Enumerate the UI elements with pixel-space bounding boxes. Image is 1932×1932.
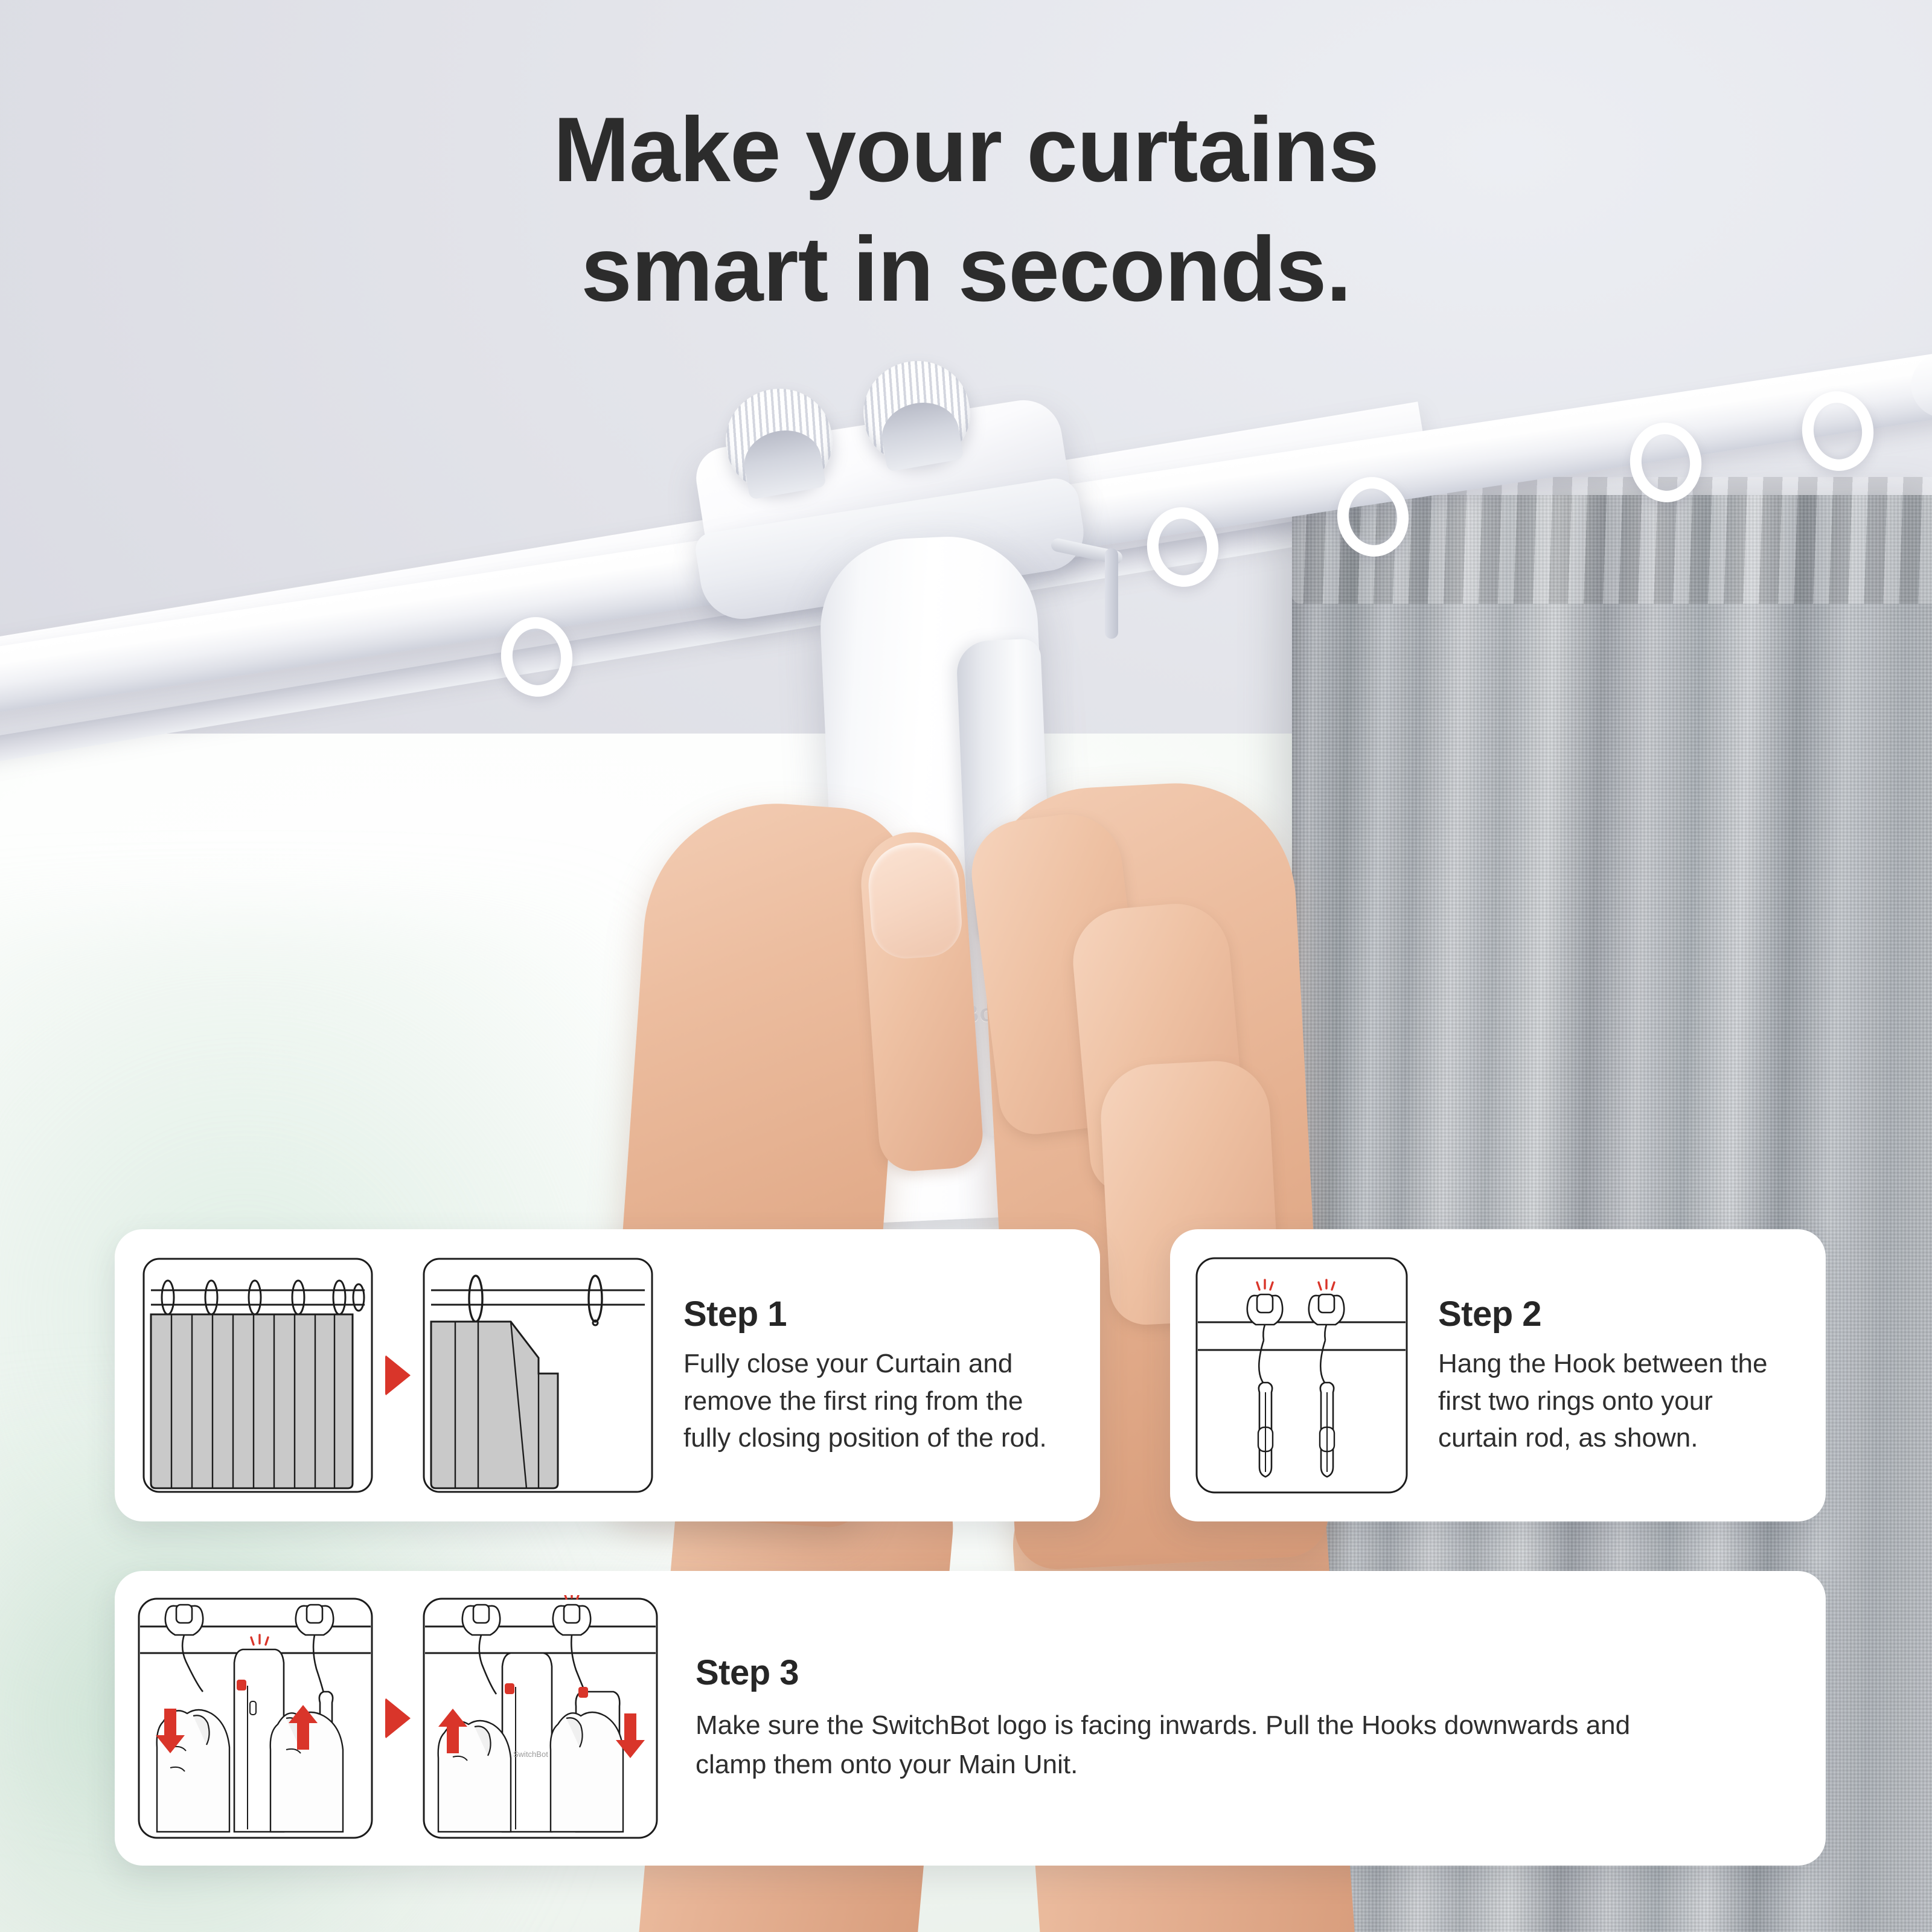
headline-line-2: smart in seconds. bbox=[0, 210, 1932, 330]
page-headline: Make your curtains smart in seconds. bbox=[0, 91, 1932, 329]
diagram-hooks-clamped: SwitchBot bbox=[420, 1595, 661, 1841]
step-3-text-block: Step 3 Make sure the SwitchBot logo is f… bbox=[661, 1652, 1658, 1783]
diagram-curtain-closed bbox=[140, 1255, 376, 1495]
step-3-title: Step 3 bbox=[696, 1652, 1637, 1693]
step-2-title: Step 2 bbox=[1438, 1294, 1776, 1334]
step-1-diagram bbox=[115, 1255, 656, 1495]
diagram-pull-hooks-down bbox=[135, 1595, 376, 1841]
headline-line-1: Make your curtains bbox=[0, 91, 1932, 210]
step-2-text-block: Step 2 Hang the Hook between the first t… bbox=[1410, 1294, 1797, 1457]
step-3-diagram: SwitchBot bbox=[115, 1595, 661, 1841]
step-2-diagram bbox=[1170, 1255, 1410, 1496]
roller-wheel-opening bbox=[877, 397, 964, 472]
diagram-hooks-on-rod bbox=[1193, 1255, 1410, 1496]
step-3-body: Make sure the SwitchBot logo is facing i… bbox=[696, 1706, 1637, 1783]
step-3-arrow-separator bbox=[376, 1698, 420, 1739]
device-hook-arm-vertical bbox=[1105, 548, 1118, 639]
diagram-ring-removed bbox=[420, 1255, 656, 1495]
step-card-1: Step 1 Fully close your Curtain and remo… bbox=[115, 1229, 1100, 1521]
step-2-body: Hang the Hook between the first two ring… bbox=[1438, 1345, 1776, 1457]
thumbnail bbox=[866, 840, 964, 961]
step-1-title: Step 1 bbox=[683, 1294, 1070, 1334]
step-1-arrow-separator bbox=[376, 1355, 420, 1396]
step-1-body: Fully close your Curtain and remove the … bbox=[683, 1345, 1070, 1457]
svg-text:SwitchBot: SwitchBot bbox=[513, 1750, 548, 1759]
red-triangle-right-icon bbox=[385, 1355, 411, 1396]
curtain-rod-end-cap bbox=[1907, 347, 1932, 423]
step-card-3: SwitchBot Step 3 bbox=[115, 1571, 1826, 1866]
step-card-2: Step 2 Hang the Hook between the first t… bbox=[1170, 1229, 1826, 1521]
red-triangle-right-icon bbox=[385, 1698, 411, 1739]
roller-wheel-opening bbox=[740, 424, 827, 500]
step-1-text-block: Step 1 Fully close your Curtain and remo… bbox=[656, 1294, 1090, 1457]
